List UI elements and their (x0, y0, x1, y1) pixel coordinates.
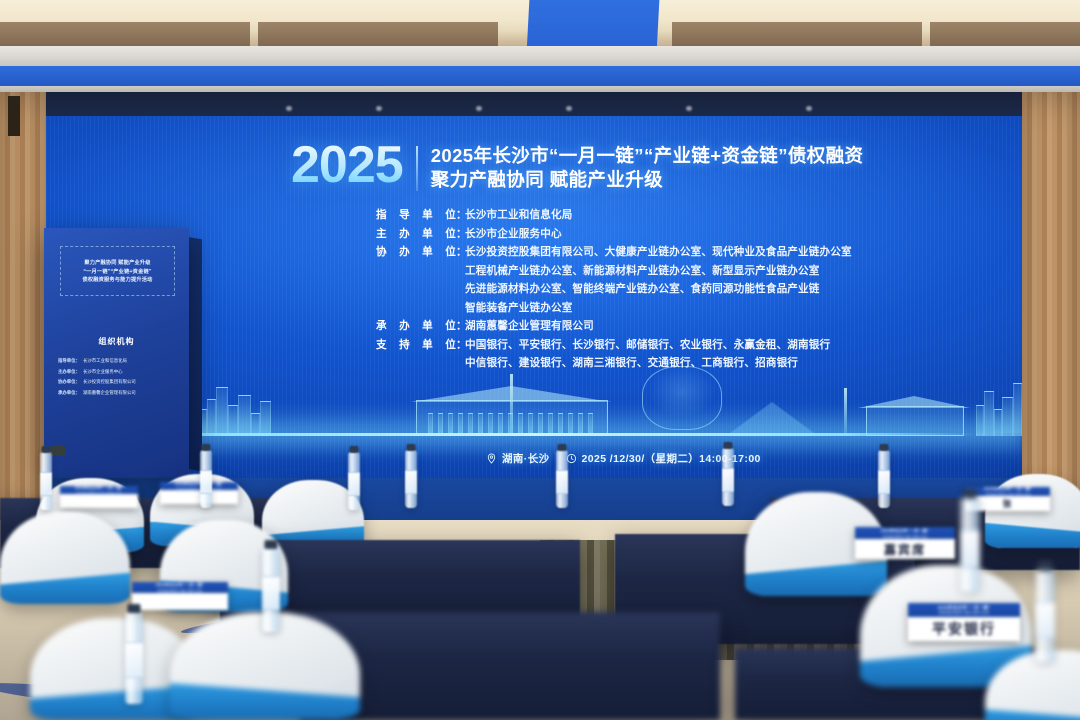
credit-row: 主办单位 ： 长沙市企业服务中心 (376, 227, 976, 242)
meta-location: 湖南·长沙 (486, 451, 550, 466)
credit-separator: ： (456, 245, 465, 260)
water-bottle (722, 448, 734, 506)
wall-panel-right (1022, 92, 1080, 522)
credit-row: 协办单位 ： 长沙投资控股集团有限公司、大健康产业链办公室、现代种业及食品产业链… (376, 245, 976, 260)
podium-row-value: 长沙市工业和信息化局 (83, 358, 127, 364)
water-bottle (405, 450, 417, 508)
location-pin-icon (486, 453, 497, 464)
podium-row-label: 承办单位： (58, 390, 80, 396)
podium-row: 承办单位： 湖南蕙馨企业管理有限公司 (58, 390, 176, 396)
podium-badge-line: 聚力产融协同 赋能产业升级 (84, 259, 150, 266)
placard-guest-seat: 2025年长沙市“一月一链” 债权融资服务与能力提升活动 嘉宾席 (855, 527, 955, 559)
podium-badge-line: 债权融资服务与能力提升活动 (82, 276, 152, 283)
podium-badge-line: “一月一链”“产业链+资金链” (83, 268, 151, 275)
ceiling-beam (0, 46, 1080, 68)
placard-head-line-2: 债权融资服务与能力提升活动 (939, 611, 990, 616)
placard-name (60, 494, 138, 508)
podium-row-value: 长沙市企业服务中心 (83, 369, 123, 375)
credit-label: 主办单位 (376, 227, 456, 242)
podium-row-label: 协办单位： (58, 379, 80, 385)
credit-label: 指导单位 (376, 208, 456, 223)
podium-row: 指导单位： 长沙市工业和信息化局 (58, 358, 176, 364)
podium-row-label: 主办单位： (58, 369, 80, 375)
credit-row: 支持单位 ： 中国银行、平安银行、长沙银行、邮储银行、农业银行、永赢金租、湖南银… (376, 338, 976, 353)
guest-chair (985, 474, 1080, 548)
placard-head-line-2: 债权融资服务与能力提升活动 (882, 534, 927, 539)
water-bottle (200, 450, 212, 508)
credit-separator: ： (456, 208, 465, 223)
podium-organizer-list: 指导单位： 长沙市工业和信息化局 主办单位： 长沙市企业服务中心 协办单位： 长… (58, 358, 176, 400)
podium-badge: 聚力产融协同 赋能产业升级 “一月一链”“产业链+资金链” 债权融资服务与能力提… (60, 246, 175, 296)
headline-line-1: 2025年长沙市“一月一链”“产业链+资金链”债权融资 (431, 144, 864, 168)
credit-label: 承办单位 (376, 319, 456, 334)
podium-row-value: 湖南蕙馨企业管理有限公司 (83, 390, 136, 396)
podium-row-label: 指导单位： (58, 358, 80, 364)
water-bottle (556, 450, 568, 508)
podium-row: 协办单位： 长沙投资控股集团有限公司 (58, 379, 176, 385)
placard-left-front: 2025年长沙市“一月一链” 债权融资服务与能力提升活动 (132, 582, 228, 610)
credit-label: 支持单位 (376, 338, 456, 353)
credit-continuation: 中信银行、建设银行、湖南三湘银行、交通银行、工商银行、招商银行 (465, 356, 976, 371)
microphone-base (50, 446, 66, 456)
podium-row-value: 长沙投资控股集团有限公司 (83, 379, 136, 385)
credit-row: 指导单位 ： 长沙市工业和信息化局 (376, 208, 976, 223)
credit-row: 承办单位 ： 湖南蕙馨企业管理有限公司 (376, 319, 976, 334)
credit-separator: ： (456, 319, 465, 334)
credit-value: 长沙市企业服务中心 (465, 227, 562, 242)
meta-location-label: 湖南·长沙 (502, 451, 550, 466)
water-bottle (40, 452, 52, 510)
organizer-credits: 指导单位 ： 长沙市工业和信息化局 主办单位 ： 长沙市企业服务中心 协办单位 … (376, 208, 976, 375)
year-badge: 2025 (291, 142, 403, 190)
conference-hall-photo: 2025 2025年长沙市“一月一链”“产业链+资金链”债权融资 聚力产融协同 … (0, 0, 1080, 720)
credit-label: 协办单位 (376, 245, 456, 260)
credit-separator: ： (456, 227, 465, 242)
placard-name: 平安银行 (908, 617, 1020, 641)
placard-name (132, 593, 228, 610)
water-bottle (348, 452, 360, 510)
guest-chair (0, 512, 130, 604)
door-edge (8, 96, 20, 136)
credit-continuation: 先进能源材料办公室、智能终端产业链办公室、食药同源功能性食品产业链 (465, 282, 976, 297)
speaker-podium: 聚力产融协同 赋能产业升级 “一月一链”“产业链+资金链” 债权融资服务与能力提… (44, 228, 189, 478)
placard-left-rear: 2025年长沙市“一月一链” 债权融资服务与能力提升活动 (60, 486, 138, 508)
guest-chair (985, 650, 1080, 720)
podium-section-title: 组织机构 (44, 336, 189, 347)
water-bottle (262, 548, 280, 632)
credit-continuation: 智能装备产业链办公室 (465, 301, 976, 316)
credit-continuation: 工程机械产业链办公室、新能源材料产业链办公室、新型显示产业链办公室 (465, 264, 976, 279)
ceiling-cove-light (0, 66, 1080, 88)
event-meta-bar: 湖南·长沙 2025 /12/30/（星期二）14:00-17:00 (486, 451, 761, 466)
screen-frame-top (46, 92, 1022, 118)
water-bottle (1035, 570, 1055, 662)
credit-value: 长沙投资控股集团有限公司、大健康产业链办公室、现代种业及食品产业链办公室 (465, 245, 852, 260)
credit-value: 中国银行、平安银行、长沙银行、邮储银行、农业银行、永赢金租、湖南银行 (465, 338, 830, 353)
credit-value: 湖南蕙馨企业管理有限公司 (465, 319, 594, 334)
credit-separator: ： (456, 338, 465, 353)
conference-table (300, 612, 720, 720)
water-bottle (125, 612, 143, 704)
placard-name (160, 490, 238, 504)
placard-name: 嘉宾席 (855, 539, 955, 559)
ceiling-light-gap (527, 0, 660, 52)
water-bottle (960, 498, 980, 592)
credit-value: 长沙市工业和信息化局 (465, 208, 572, 223)
placard-mid-rear: 2025年长沙市“一月一链” 债权融资服务与能力提升活动 (160, 482, 238, 504)
screen-headline: 2025 2025年长沙市“一月一链”“产业链+资金链”债权融资 聚力产融协同 … (291, 142, 991, 193)
headline-line-2: 聚力产融协同 赋能产业升级 (431, 168, 864, 192)
water-bottle (878, 450, 890, 508)
podium-row: 主办单位： 长沙市企业服务中心 (58, 369, 176, 375)
placard-pingan-bank: 2025年长沙市“一月一链” 债权融资服务与能力提升活动 平安银行 (908, 603, 1020, 641)
headline-divider (416, 146, 418, 191)
